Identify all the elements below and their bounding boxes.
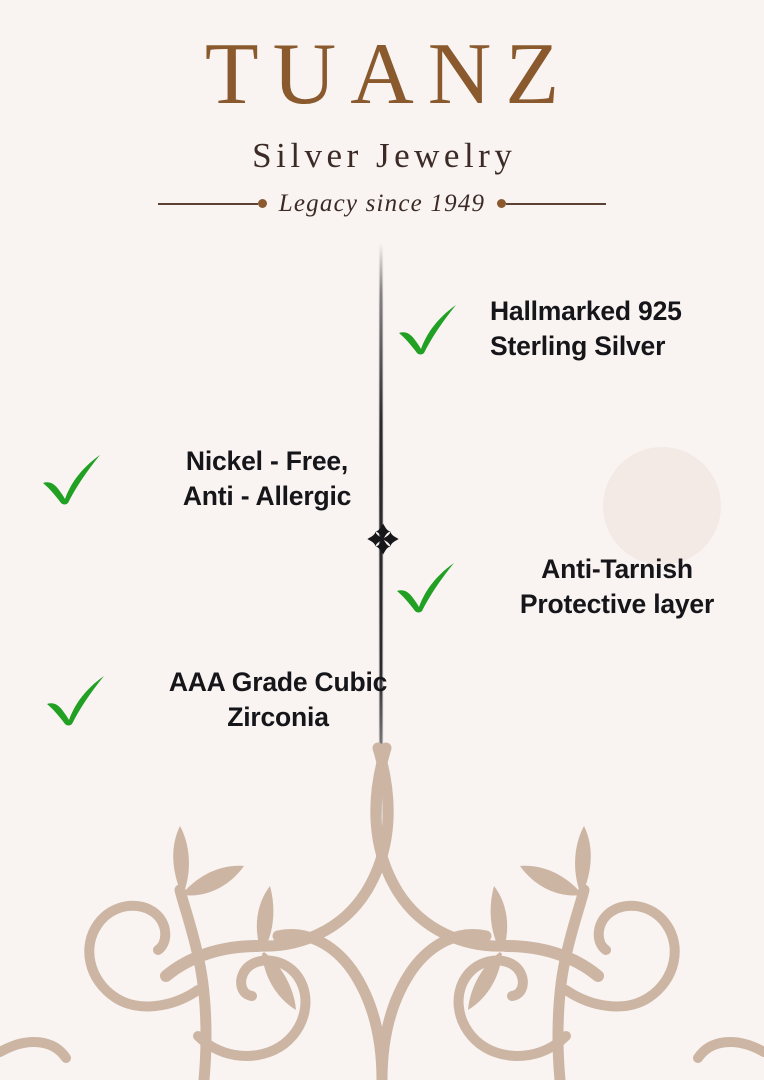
brand-title: TUANZ [0, 28, 764, 121]
feature-label: Hallmarked 925 Sterling Silver [490, 294, 682, 364]
legacy-dot-right [497, 199, 506, 208]
poster-canvas: TUANZ Silver Jewelry Legacy since 1949 [0, 0, 764, 1080]
green-check-icon [40, 452, 104, 506]
feature-item-hallmarked-925-sterling-silver: Hallmarked 925 Sterling Silver [396, 294, 682, 364]
green-check-icon [396, 302, 460, 356]
decorative-circle [603, 447, 721, 565]
legacy-rule-left [158, 203, 258, 205]
green-check-icon [44, 673, 108, 727]
quatrefoil-ornament-icon [366, 522, 400, 556]
feature-label: AAA Grade Cubic Zirconia [128, 665, 428, 735]
legacy-divider: Legacy since 1949 [0, 190, 764, 218]
feature-label: Nickel - Free, Anti - Allergic [128, 444, 406, 514]
feature-item-anti-tarnish-protective-layer: Anti-Tarnish Protective layer [394, 552, 758, 622]
floral-vine-flourish-icon [0, 740, 764, 1080]
feature-item-nickel-free-anti-allergic: Nickel - Free, Anti - Allergic [40, 444, 406, 514]
legacy-dot-left [258, 199, 267, 208]
legacy-rule-right [506, 203, 606, 205]
green-check-icon [394, 560, 458, 614]
brand-tagline: Silver Jewelry [0, 137, 764, 176]
brand-header: TUANZ Silver Jewelry Legacy since 1949 [0, 28, 764, 218]
feature-label: Anti-Tarnish Protective layer [476, 552, 758, 622]
legacy-label: Legacy since 1949 [267, 190, 497, 218]
feature-item-aaa-grade-cubic-zirconia: AAA Grade Cubic Zirconia [44, 665, 428, 735]
